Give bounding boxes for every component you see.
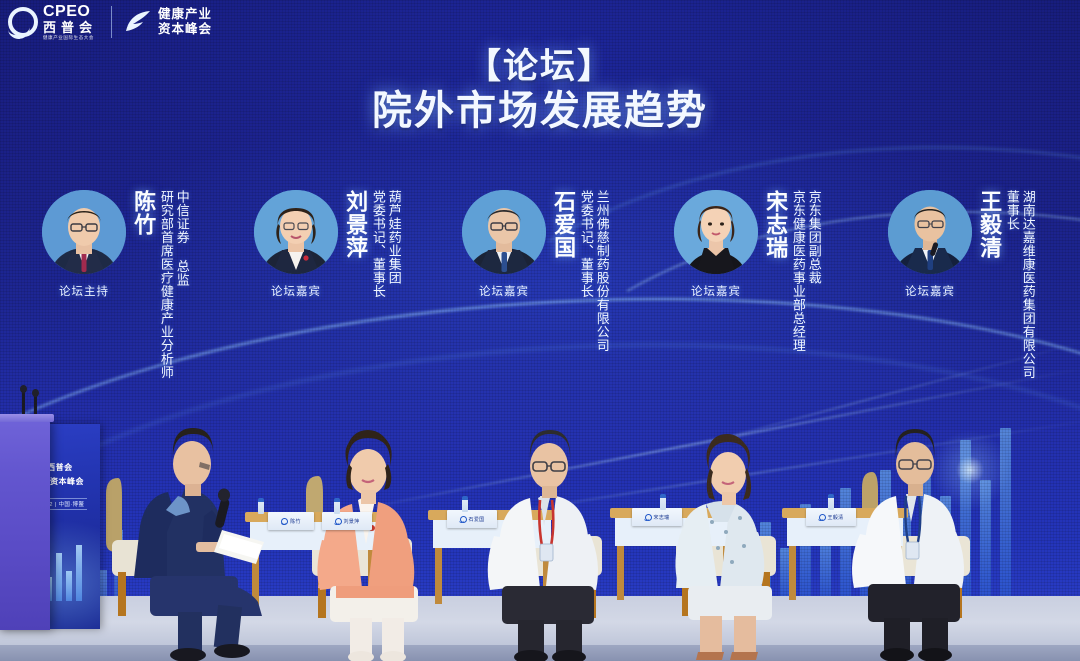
- panelist-title-line: 党委书记、董事长: [578, 190, 593, 352]
- health-capital-summit-logo: 健康产业 资本峰会: [124, 7, 212, 37]
- panelist-title-line: 湖南达嘉维康医药集团有限公司: [1020, 190, 1035, 379]
- panelist-avatar: [888, 190, 972, 274]
- cpeo-logo: CPEO 西普会 健康产业国际生态大会: [8, 4, 97, 41]
- panelist-card: 论坛嘉宾 王毅清 湖南达嘉维康医药集团有限公司 董事长: [886, 190, 1035, 379]
- panelist-role: 论坛嘉宾: [691, 283, 741, 299]
- leaf-icon: [124, 9, 152, 35]
- panelist-title-line: 兰州佛慈制药股份有限公司: [594, 190, 609, 352]
- forum-title-line1: 【论坛】: [0, 46, 1080, 87]
- panelist-role: 论坛嘉宾: [905, 283, 955, 299]
- nameplate: 宋志瑞: [632, 508, 682, 526]
- seated-panel-group: [0, 400, 1080, 661]
- panelist-card: 论坛嘉宾 刘景萍 葫芦娃药业集团 党委书记、董事长: [252, 190, 401, 299]
- cpeo-logo-sub: 健康产业国际生态大会: [43, 36, 97, 41]
- water-bottle: [258, 498, 264, 514]
- cpeo-logo-en: CPEO: [43, 4, 97, 20]
- cpeo-ring-icon: [8, 7, 38, 37]
- nameplate: 陈竹: [268, 512, 314, 530]
- forum-title-block: 【论坛】 院外市场发展趋势: [0, 46, 1080, 136]
- panelist-title-line: 葫芦娃药业集团: [386, 190, 401, 298]
- panelist-card: 论坛嘉宾 宋志瑞 京东集团副总裁 京东健康医药事业部总经理: [672, 190, 821, 352]
- panelist-title-group: 兰州佛慈制药股份有限公司 党委书记、董事长: [577, 190, 609, 352]
- panelist-name: 刘景萍: [344, 190, 367, 259]
- nameplate-logo-icon: [281, 518, 288, 525]
- panelist-card: 论坛主持 陈竹 中信证券 总监 研究部首席医疗健康产业分析师: [40, 190, 189, 379]
- panelist-title-line: 京东健康医药事业部总经理: [790, 190, 805, 352]
- nameplate-logo-icon: [819, 514, 826, 521]
- panelist-role: 论坛嘉宾: [479, 283, 529, 299]
- seated-person-chen-zhu: [134, 428, 264, 661]
- logo-divider: [111, 6, 112, 38]
- water-bottle: [334, 498, 340, 514]
- panelist-strip: 论坛主持 陈竹 中信证券 总监 研究部首席医疗健康产业分析师: [0, 190, 1080, 430]
- panelist-title-group: 葫芦娃药业集团 党委书记、董事长: [369, 190, 401, 298]
- panelist-title-line: 董事长: [1004, 190, 1019, 379]
- panelist-title-line: 研究部首席医疗健康产业分析师: [158, 190, 173, 379]
- nameplate: 石爱国: [447, 510, 497, 528]
- nameplate-text: 宋志瑞: [654, 514, 670, 521]
- nameplate-text: 石爱国: [469, 516, 485, 523]
- nameplate-text: 刘景萍: [344, 518, 360, 525]
- panelist-card: 论坛嘉宾 石爱国 兰州佛慈制药股份有限公司 党委书记、董事长: [460, 190, 609, 352]
- water-bottle: [462, 496, 468, 512]
- panelist-avatar: [254, 190, 338, 274]
- panelist-avatar: [462, 190, 546, 274]
- nameplate-text: 王毅清: [828, 514, 844, 521]
- panelist-title-group: 湖南达嘉维康医药集团有限公司 董事长: [1003, 190, 1035, 379]
- seated-person-shi-aiguo: [488, 430, 598, 661]
- panelist-title-group: 京东集团副总裁 京东健康医药事业部总经理: [789, 190, 821, 352]
- panelist-name: 石爱国: [552, 190, 575, 259]
- podium-lectern: [0, 420, 50, 630]
- seated-person-wang-yiqing: [852, 429, 964, 661]
- nameplate-logo-icon: [335, 518, 342, 525]
- nameplate: 刘景萍: [322, 512, 372, 530]
- nameplate-text: 陈竹: [290, 518, 301, 525]
- nameplate-logo-icon: [645, 514, 652, 521]
- forum-title-line2: 院外市场发展趋势: [0, 87, 1080, 136]
- nameplate-logo-icon: [460, 516, 467, 523]
- summit-logo-line1: 健康产业: [158, 7, 212, 22]
- panelist-role: 论坛嘉宾: [271, 283, 321, 299]
- panelist-name: 陈竹: [132, 190, 155, 236]
- panelist-avatar: [42, 190, 126, 274]
- water-bottle: [828, 494, 834, 510]
- panelist-name: 宋志瑞: [764, 190, 787, 259]
- panelist-name: 王毅清: [978, 190, 1001, 259]
- panelist-title-line: 中信证券 总监: [174, 190, 189, 379]
- header-logo-bar: CPEO 西普会 健康产业国际生态大会 健康产业 资本峰会: [0, 0, 1080, 44]
- panelist-title-line: 党委书记、董事长: [370, 190, 385, 298]
- conference-stage-photo: CPEO 西普会 健康产业国际生态大会 健康产业 资本峰会 【论坛】 院外市场发…: [0, 0, 1080, 661]
- panelist-title-group: 中信证券 总监 研究部首席医疗健康产业分析师: [157, 190, 189, 379]
- nameplate: 王毅清: [806, 508, 856, 526]
- panelist-role: 论坛主持: [59, 283, 109, 299]
- cpeo-logo-cn: 西普会: [43, 21, 97, 34]
- podium-top: [0, 414, 54, 422]
- water-bottle: [660, 494, 666, 510]
- panelist-avatar: [674, 190, 758, 274]
- panelist-title-line: 京东集团副总裁: [806, 190, 821, 352]
- summit-logo-line2: 资本峰会: [158, 22, 212, 37]
